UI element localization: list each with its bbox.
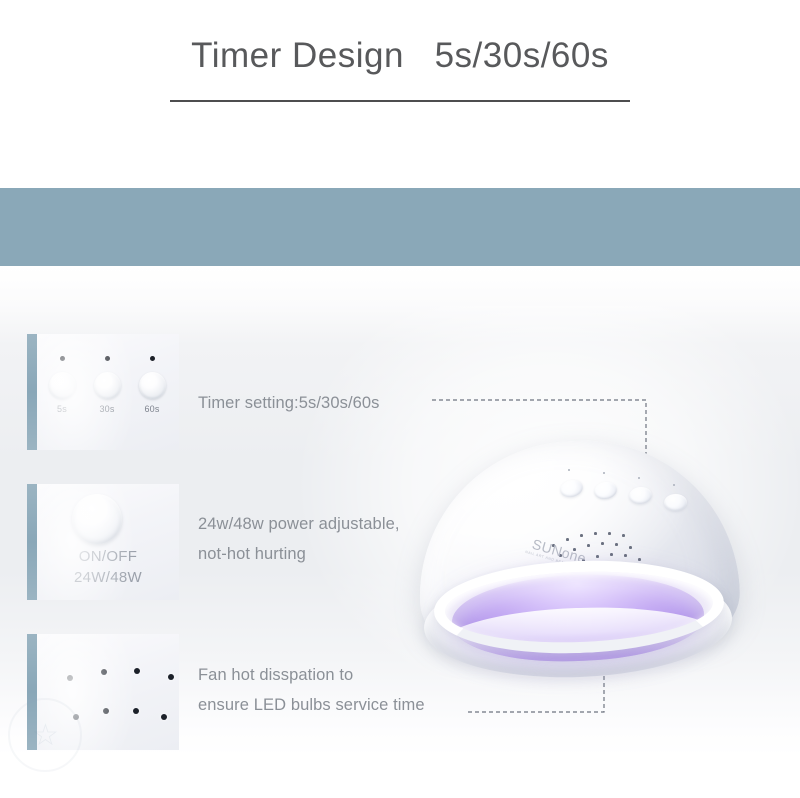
lamp-vent-dot <box>582 559 585 562</box>
fan-vent-hole <box>101 669 107 675</box>
feature-description-fan: Fan hot disspation to ensure LED bulbs s… <box>198 660 425 720</box>
thumb-timer-buttons: 5s 30s 60s <box>37 334 179 450</box>
lamp-vent-dot <box>638 558 641 561</box>
fan-vent-hole <box>133 708 139 714</box>
lamp-indicator-dot-2 <box>603 472 605 474</box>
fan-vent-hole <box>134 668 140 674</box>
lamp-vent-dot <box>601 542 604 545</box>
thumb-fan-vents <box>37 634 179 750</box>
lamp-vent-dot <box>566 538 569 541</box>
accent-band <box>0 188 800 266</box>
power-button[interactable] <box>72 494 122 544</box>
lamp-vent-dot <box>552 544 555 547</box>
timer-button-label-30s: 30s <box>90 404 124 414</box>
lamp-vent-dot <box>587 544 590 547</box>
lamp-indicator-dot-3 <box>638 477 640 479</box>
title-divider <box>170 100 630 102</box>
timer-indicator-dot <box>105 356 110 361</box>
lamp-indicator-dot-1 <box>568 469 570 471</box>
feature-description-timer: Timer setting:5s/30s/60s <box>198 388 380 418</box>
lamp-vent-dot <box>610 553 613 556</box>
infographic-page: Timer Design 5s/30s/60s <box>0 0 800 798</box>
power-button-label-wattage: 24W/48W <box>37 569 179 586</box>
fan-vent-hole <box>103 708 109 714</box>
content-stage: SUNone NAIL ART AND BEAUTY TOOLS 5s 30s … <box>0 266 800 798</box>
power-button-label-onoff: ON/OFF <box>37 548 179 565</box>
panel-accent-bar <box>27 484 37 600</box>
timer-button-60s[interactable] <box>139 372 166 399</box>
timer-button-30s[interactable] <box>94 372 121 399</box>
timer-button-5s[interactable] <box>49 372 76 399</box>
panel-accent-bar <box>27 334 37 450</box>
timer-indicator-dot <box>150 356 155 361</box>
lamp-vent-dot <box>573 548 576 551</box>
panel-accent-bar <box>27 634 37 750</box>
feature-panel-power: ON/OFF 24W/48W <box>27 484 179 600</box>
lamp-vent-dot <box>624 554 627 557</box>
lamp-indicator-dot-4 <box>673 484 675 486</box>
lamp-vent-dot <box>608 532 611 535</box>
timer-indicator-dot <box>60 356 65 361</box>
fan-vent-hole <box>168 674 174 680</box>
feature-description-power: 24w/48w power adjustable, not-hot hurtin… <box>198 509 400 569</box>
lamp-vent-dot <box>622 534 625 537</box>
lamp-vent-dot <box>629 546 632 549</box>
lamp-vent-dot <box>580 534 583 537</box>
thumb-onoff-button: ON/OFF 24W/48W <box>37 484 179 600</box>
lamp-vent-dot <box>596 555 599 558</box>
lamp-vent-dot <box>594 532 597 535</box>
feature-panel-fan <box>27 634 179 750</box>
fan-vent-hole <box>73 714 79 720</box>
page-title: Timer Design 5s/30s/60s <box>0 36 800 76</box>
product-image-nail-lamp: SUNone NAIL ART AND BEAUTY TOOLS <box>418 441 738 681</box>
fan-vent-hole <box>161 714 167 720</box>
lamp-vent-dot <box>559 554 562 557</box>
timer-button-label-60s: 60s <box>135 404 169 414</box>
header: Timer Design 5s/30s/60s <box>0 0 800 188</box>
lamp-vent-dot <box>615 543 618 546</box>
lamp-vent-dot <box>568 565 571 568</box>
timer-button-label-5s: 5s <box>45 404 79 414</box>
feature-panel-timer: 5s 30s 60s <box>27 334 179 450</box>
fan-vent-hole <box>67 675 73 681</box>
